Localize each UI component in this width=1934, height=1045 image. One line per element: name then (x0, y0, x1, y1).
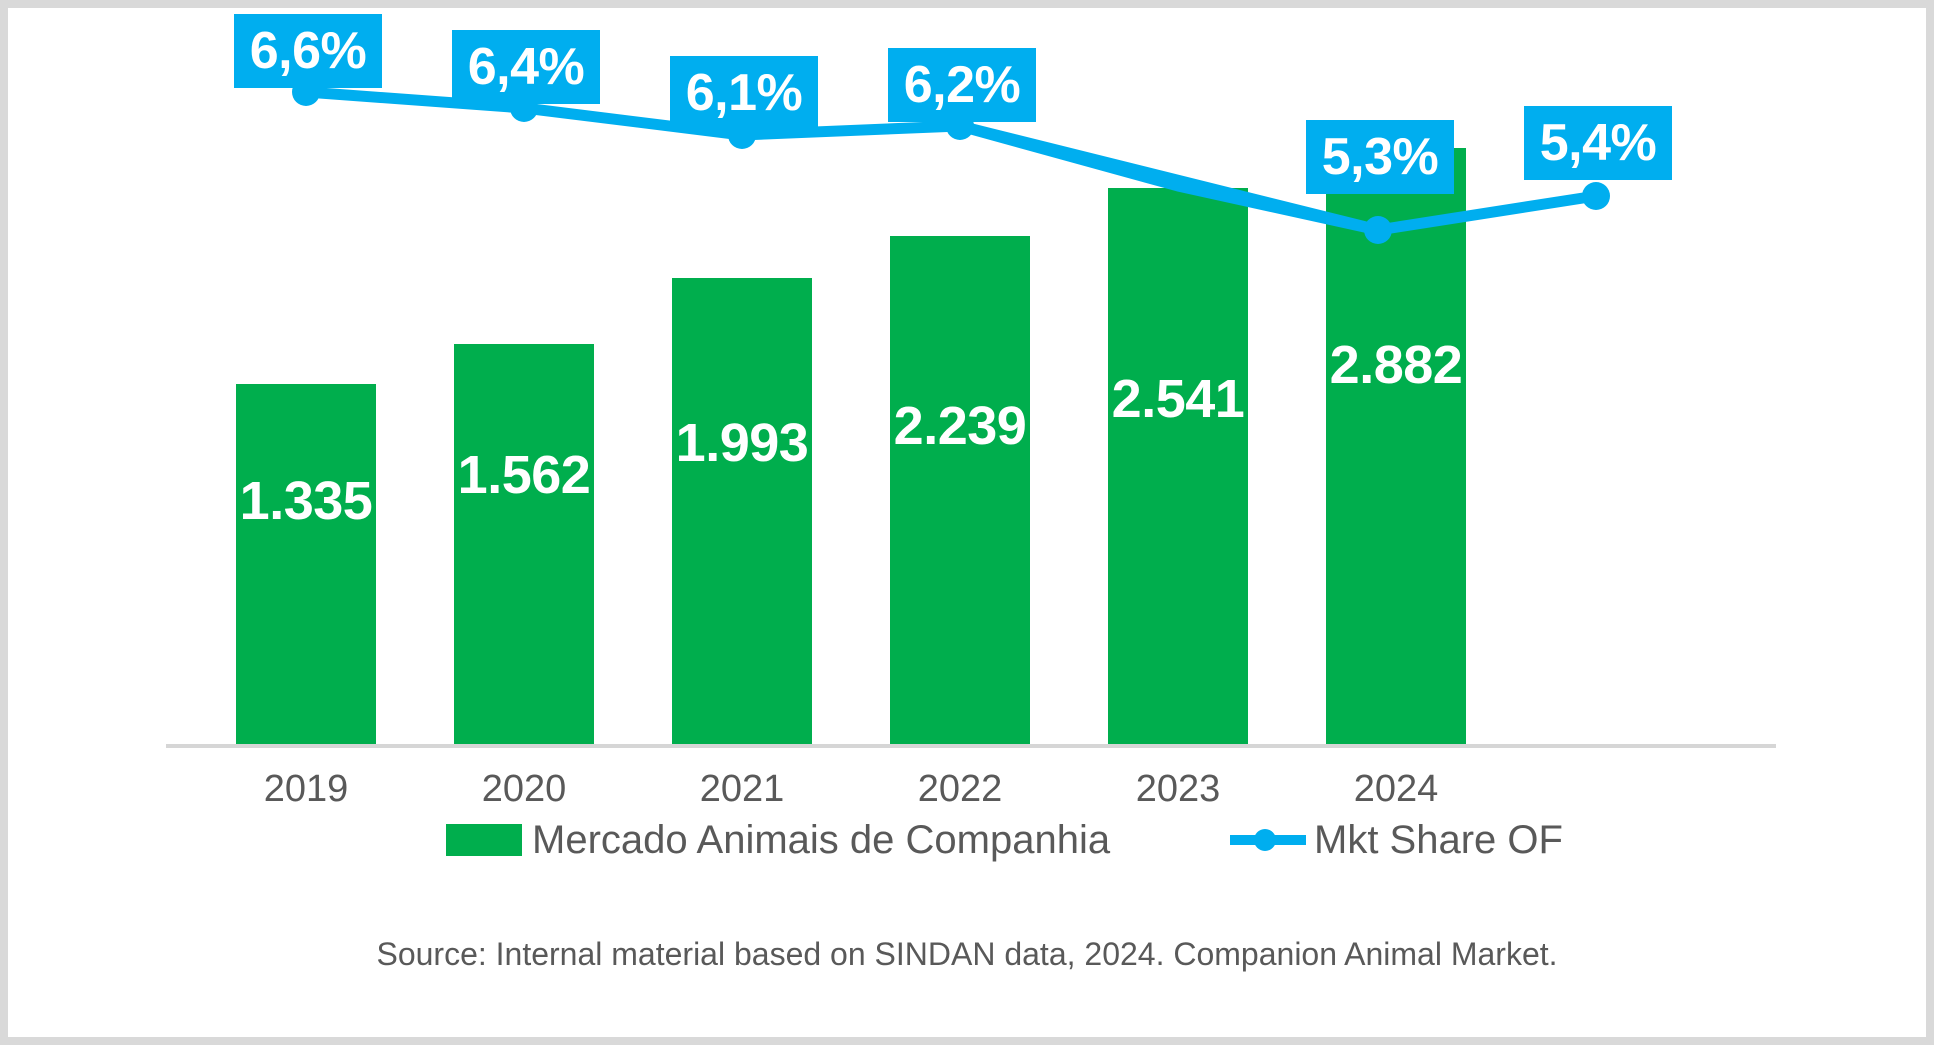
x-tick-2023: 2023 (1108, 770, 1248, 808)
bar-2020[interactable] (454, 344, 594, 744)
x-tick-2021: 2021 (672, 770, 812, 808)
bar-2024[interactable] (1326, 148, 1466, 744)
pct-label-2019: 6,6% (234, 14, 382, 88)
chart-legend: Mercado Animais de Companhia Mkt Share O… (8, 820, 1926, 866)
legend-line-marker-icon (1230, 824, 1306, 856)
image-frame: 1.335 1.562 1.993 2.239 2.541 2.882 6,6%… (0, 0, 1934, 1045)
pct-label-2022: 6,2% (888, 48, 1036, 122)
plot-area: 1.335 1.562 1.993 2.239 2.541 2.882 6,6%… (8, 8, 1926, 1037)
x-tick-2020: 2020 (454, 770, 594, 808)
legend-bar-swatch-icon (446, 824, 522, 856)
chart-canvas: 1.335 1.562 1.993 2.239 2.541 2.882 6,6%… (8, 8, 1926, 1037)
legend-label-mercado-animais-de-companhia: Mercado Animais de Companhia (532, 820, 1110, 860)
bar-value-label-2021: 1.993 (672, 416, 812, 470)
x-tick-2024: 2024 (1326, 770, 1466, 808)
legend-item-mkt-share-of[interactable]: Mkt Share OF (1230, 820, 1563, 860)
bar-value-label-2020: 1.562 (454, 448, 594, 502)
bar-value-label-2023: 2.541 (1108, 372, 1248, 426)
bar-value-label-2022: 2.239 (890, 399, 1030, 453)
legend-item-mercado-animais-de-companhia[interactable]: Mercado Animais de Companhia (446, 820, 1110, 860)
x-axis-line (166, 744, 1776, 748)
legend-line-dot-icon (1254, 829, 1276, 851)
bar-value-label-2019: 1.335 (236, 474, 376, 528)
pct-label-2023: 5,3% (1306, 120, 1454, 194)
source-note: Source: Internal material based on SINDA… (8, 938, 1926, 970)
x-tick-2019: 2019 (236, 770, 376, 808)
bar-2021[interactable] (672, 278, 812, 744)
bar-2023[interactable] (1108, 188, 1248, 744)
bar-2019[interactable] (236, 384, 376, 744)
bar-value-label-2024: 2.882 (1326, 338, 1466, 392)
x-tick-2022: 2022 (890, 770, 1030, 808)
pct-label-2024: 5,4% (1524, 106, 1672, 180)
pct-label-2021: 6,1% (670, 56, 818, 130)
bar-2022[interactable] (890, 236, 1030, 744)
legend-label-mkt-share-of: Mkt Share OF (1314, 820, 1563, 860)
pct-label-2020: 6,4% (452, 30, 600, 104)
